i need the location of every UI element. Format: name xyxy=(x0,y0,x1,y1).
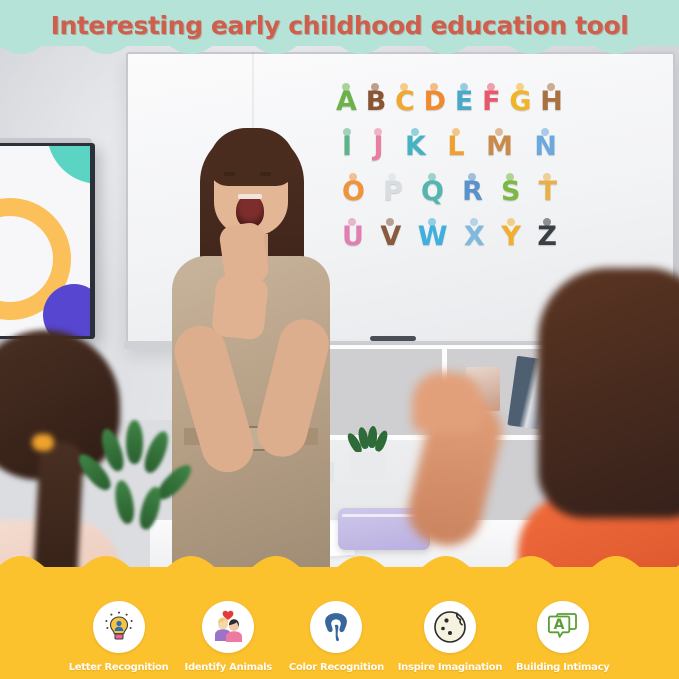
alphabet-letter-q: Q xyxy=(421,178,443,205)
header-scallop-edge xyxy=(0,40,679,62)
feature-icon-wrap xyxy=(202,601,254,653)
alphabet-letter-a: A xyxy=(336,88,356,115)
alphabet-letter-m: M xyxy=(486,133,512,160)
alphabet-letter-d: D xyxy=(424,88,445,115)
page-title: Interesting early childhood education to… xyxy=(0,11,679,40)
cookie-icon xyxy=(433,610,467,644)
pencil-holder-group xyxy=(330,440,400,500)
alphabet-letter-j: J xyxy=(374,133,383,160)
lightbulb-person-icon xyxy=(102,610,136,644)
feature-building-intimacy[interactable]: A Building Intimacy xyxy=(516,601,610,673)
alphabet-row: IJKLMN xyxy=(336,115,562,160)
student-right xyxy=(508,268,679,578)
foreground-plant xyxy=(86,420,216,570)
alphabet-letter-u: U xyxy=(342,223,363,250)
alphabet-letter-t: T xyxy=(539,178,556,205)
alphabet-letter-p: P xyxy=(383,178,402,205)
teacher-brow xyxy=(223,164,237,167)
feature-list: Letter Recognition Identify Animals xyxy=(0,571,679,673)
teacher-teeth xyxy=(238,194,262,199)
alphabet-letter-y: Y xyxy=(501,223,520,250)
student-right-hand xyxy=(412,372,482,432)
teacher-eye xyxy=(260,172,271,176)
alphabet-letter-r: R xyxy=(462,178,482,205)
feature-color-recognition[interactable]: Color Recognition xyxy=(289,601,384,673)
alphabet-magnet-set: ABCDEFGH IJKLMN OPQRST UVWXYZ xyxy=(336,70,562,250)
feature-identify-animals[interactable]: Identify Animals xyxy=(185,601,272,673)
alphabet-letter-c: C xyxy=(395,88,414,115)
feature-letter-recognition[interactable]: Letter Recognition xyxy=(70,601,168,673)
feature-label: Inspire Imagination xyxy=(398,662,502,673)
teacher-hair-top xyxy=(208,128,296,186)
alphabet-letter-i: I xyxy=(342,133,351,160)
alphabet-letter-z: Z xyxy=(537,223,556,250)
alphabet-row: OPQRST xyxy=(336,160,562,205)
teacher-hand-lower xyxy=(211,273,269,340)
speech-bubble-letter-a-icon: A xyxy=(546,610,580,644)
feature-icon-wrap xyxy=(424,601,476,653)
alphabet-letter-h: H xyxy=(540,88,562,115)
feature-inspire-imagination[interactable]: Inspire Imagination xyxy=(401,601,499,673)
elephant-icon xyxy=(318,610,354,644)
student-left-hair-tie xyxy=(32,434,54,451)
alphabet-letter-w: W xyxy=(418,223,447,250)
classroom-display-screen xyxy=(0,143,95,339)
alphabet-letter-e: E xyxy=(455,88,472,115)
teacher-eye xyxy=(224,172,235,176)
feature-label: Identify Animals xyxy=(185,662,272,673)
whiteboard-marker xyxy=(370,336,416,341)
alphabet-letter-k: K xyxy=(405,133,425,160)
alphabet-row: UVWXYZ xyxy=(336,205,562,250)
alphabet-letter-o: O xyxy=(342,178,364,205)
student-right-hair xyxy=(538,268,679,518)
teacher-brow xyxy=(258,164,272,167)
alphabet-letter-l: L xyxy=(447,133,463,160)
alphabet-letter-x: X xyxy=(464,223,484,250)
display-shape-teal xyxy=(47,143,95,184)
banner-footer: Letter Recognition Identify Animals xyxy=(0,551,679,679)
alphabet-row: ABCDEFGH xyxy=(336,70,562,115)
feature-icon-wrap xyxy=(310,601,362,653)
product-banner: ABCDEFGH IJKLMN OPQRST UVWXYZ xyxy=(0,0,679,679)
two-people-heart-icon xyxy=(210,609,246,645)
alphabet-letter-f: F xyxy=(482,88,499,115)
alphabet-letter-s: S xyxy=(501,178,519,205)
feature-label: Color Recognition xyxy=(289,662,384,673)
banner-header: Interesting early childhood education to… xyxy=(0,0,679,57)
feature-label: Letter Recognition xyxy=(69,662,169,673)
alphabet-letter-g: G xyxy=(509,88,530,115)
alphabet-letter-n: N xyxy=(534,133,556,160)
alphabet-letter-v: V xyxy=(380,223,400,250)
feature-icon-wrap xyxy=(93,601,145,653)
svg-text:A: A xyxy=(553,617,564,633)
feature-icon-wrap: A xyxy=(537,601,589,653)
feature-label: Building Intimacy xyxy=(516,662,610,673)
alphabet-letter-b: B xyxy=(366,88,386,115)
